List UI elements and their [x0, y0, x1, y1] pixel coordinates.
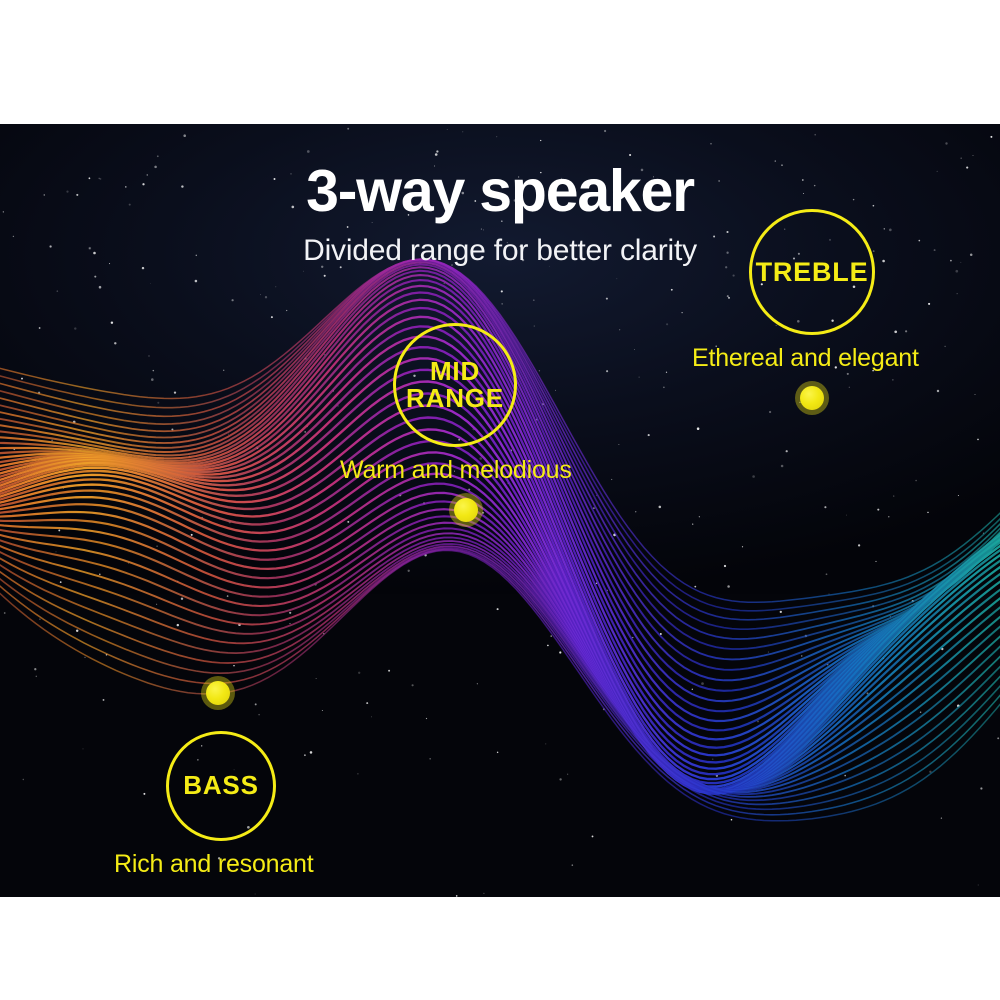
page-title: 3-way speaker [0, 162, 1000, 221]
badge-mid-label-line2: RANGE [406, 385, 504, 412]
marker-dot-bass [201, 676, 235, 710]
marker-dot-treble [795, 381, 829, 415]
marker-dot-mid-range [449, 493, 483, 527]
caption-treble: Ethereal and elegant [692, 346, 919, 371]
caption-bass: Rich and resonant [114, 852, 314, 877]
badge-treble: TREBLE [749, 209, 875, 335]
badge-bass: BASS [166, 731, 276, 841]
hero-panel: 3-way speaker Divided range for better c… [0, 124, 1000, 897]
badge-mid-range: MID RANGE [393, 323, 517, 447]
badge-treble-label: TREBLE [756, 258, 869, 286]
badge-bass-label: BASS [183, 772, 258, 799]
poster-canvas: 3-way speaker Divided range for better c… [0, 0, 1000, 1000]
badge-mid-label-line1: MID [406, 358, 504, 385]
caption-mid-range: Warm and melodious [340, 458, 572, 483]
